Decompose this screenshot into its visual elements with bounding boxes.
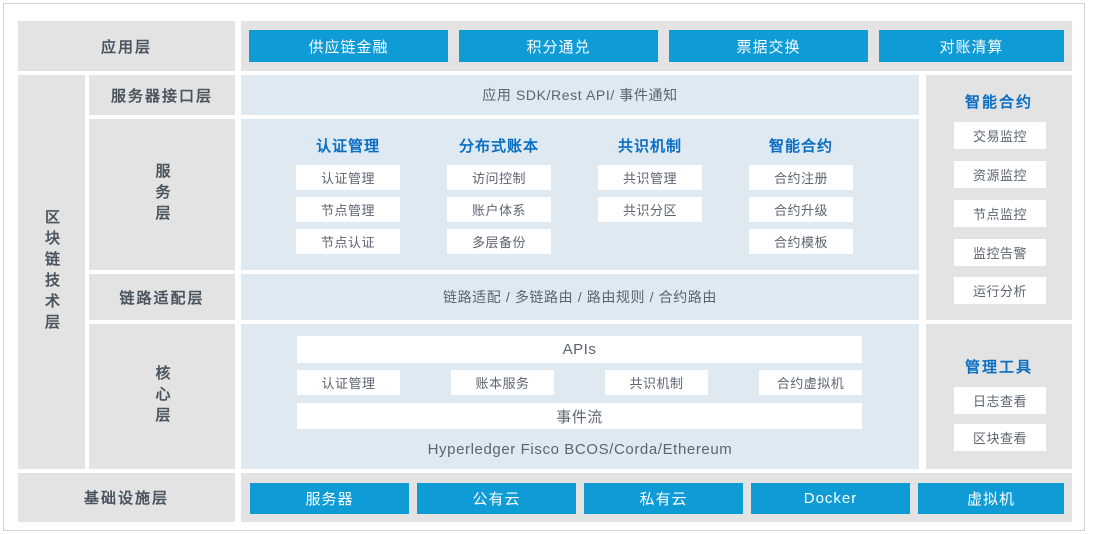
- right-panel-0-item-1[interactable]: 资源监控: [954, 161, 1046, 188]
- service-column-title-2: 共识机制: [598, 135, 702, 156]
- service-chip-1-1[interactable]: 账户体系: [447, 197, 551, 222]
- blockchain-tech-layer-label: 区块链技术层: [18, 75, 85, 469]
- service-column-title-1: 分布式账本: [447, 135, 551, 156]
- right-panel-0-item-0[interactable]: 交易监控: [954, 122, 1046, 149]
- service-chip-3-0[interactable]: 合约注册: [749, 165, 853, 190]
- right-panel-title-0: 智能合约: [926, 91, 1072, 112]
- infrastructure-item-0[interactable]: 服务器: [250, 483, 409, 514]
- application-item-3[interactable]: 对账清算: [879, 30, 1064, 62]
- service-chip-0-2[interactable]: 节点认证: [296, 229, 400, 254]
- service-chip-3-2[interactable]: 合约模板: [749, 229, 853, 254]
- core-module-1[interactable]: 账本服务: [451, 370, 554, 395]
- infrastructure-item-3[interactable]: Docker: [751, 483, 910, 514]
- link-adapter-band: 链路适配 / 多链路由 / 路由规则 / 合约路由: [241, 274, 919, 320]
- right-panel-0-item-4[interactable]: 运行分析: [954, 277, 1046, 304]
- core-event-stream-box[interactable]: 事件流: [297, 403, 862, 429]
- service-column-title-0: 认证管理: [296, 135, 400, 156]
- infrastructure-item-1[interactable]: 公有云: [417, 483, 576, 514]
- core-apis-box[interactable]: APIs: [297, 336, 862, 363]
- server-interface-layer-label: 服务器接口层: [89, 75, 235, 115]
- application-item-2[interactable]: 票据交换: [669, 30, 868, 62]
- infrastructure-item-4[interactable]: 虚拟机: [918, 483, 1064, 514]
- right-panel-1-item-0[interactable]: 日志查看: [954, 387, 1046, 414]
- architecture-diagram: 应用层 供应链金融 积分通兑 票据交换 对账清算 区块链技术层 服务器接口层 应…: [3, 3, 1085, 531]
- application-item-0[interactable]: 供应链金融: [249, 30, 448, 62]
- core-layer-label: 核心层: [89, 324, 235, 469]
- right-panel-title-1: 管理工具: [926, 356, 1072, 377]
- service-chip-3-1[interactable]: 合约升级: [749, 197, 853, 222]
- core-platforms-text: Hyperledger Fisco BCOS/Corda/Ethereum: [241, 434, 919, 464]
- service-chip-0-0[interactable]: 认证管理: [296, 165, 400, 190]
- server-interface-band: 应用 SDK/Rest API/ 事件通知: [241, 75, 919, 115]
- right-panel-0-item-3[interactable]: 监控告警: [954, 239, 1046, 266]
- service-chip-1-0[interactable]: 访问控制: [447, 165, 551, 190]
- right-panel-0-item-2[interactable]: 节点监控: [954, 200, 1046, 227]
- service-column-title-3: 智能合约: [749, 135, 853, 156]
- right-panel-1-item-1[interactable]: 区块查看: [954, 424, 1046, 451]
- infrastructure-layer-label: 基础设施层: [18, 473, 235, 522]
- service-layer-label: 服务层: [89, 119, 235, 270]
- core-module-0[interactable]: 认证管理: [297, 370, 400, 395]
- core-module-2[interactable]: 共识机制: [605, 370, 708, 395]
- service-chip-2-1[interactable]: 共识分区: [598, 197, 702, 222]
- application-layer-label: 应用层: [18, 21, 235, 71]
- infrastructure-item-2[interactable]: 私有云: [584, 483, 743, 514]
- core-module-3[interactable]: 合约虚拟机: [759, 370, 862, 395]
- application-item-1[interactable]: 积分通兑: [459, 30, 658, 62]
- service-chip-2-0[interactable]: 共识管理: [598, 165, 702, 190]
- link-adapter-layer-label: 链路适配层: [89, 274, 235, 320]
- service-chip-1-2[interactable]: 多层备份: [447, 229, 551, 254]
- service-chip-0-1[interactable]: 节点管理: [296, 197, 400, 222]
